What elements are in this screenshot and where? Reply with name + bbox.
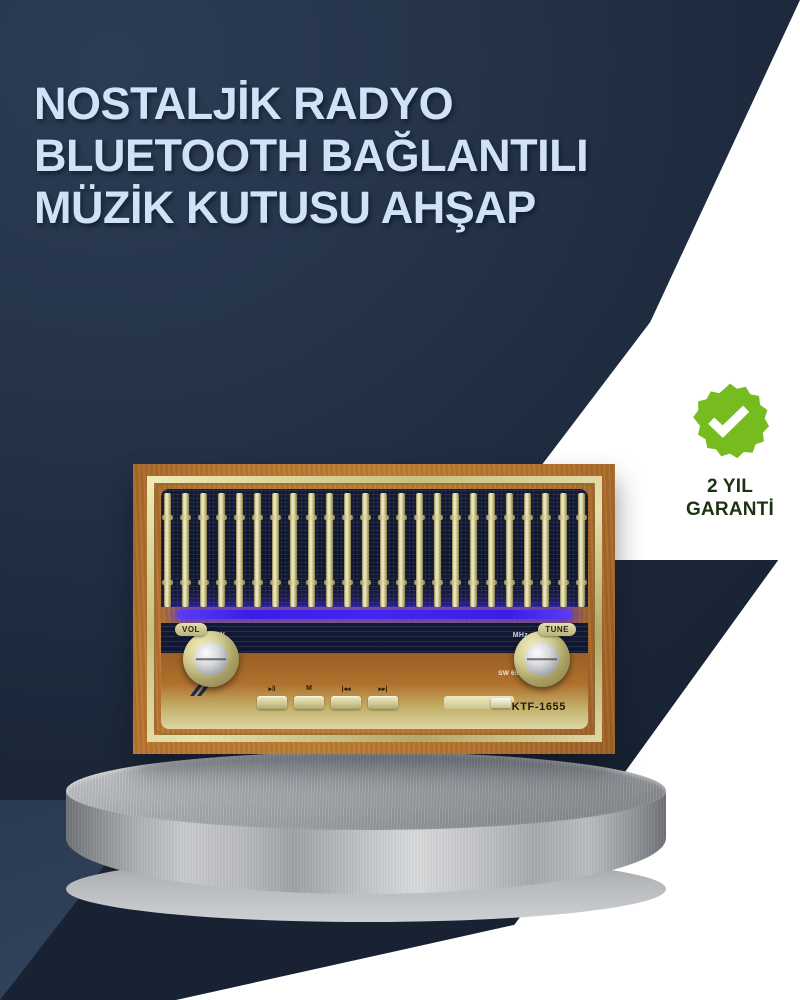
headline-line-3: MÜZİK KUTUSU AHŞAP: [34, 182, 754, 234]
grille-bar: [308, 493, 315, 607]
warranty-badge-label: 2 YIL GARANTİ: [662, 475, 798, 521]
play-pause-button-icon: ▸ǁ: [257, 685, 287, 693]
warranty-badge: 2 YIL GARANTİ: [662, 382, 798, 521]
grille-bar: [218, 493, 225, 607]
product-pedestal: [66, 752, 666, 924]
next-track-button[interactable]: [368, 696, 398, 709]
grille-bar: [200, 493, 207, 607]
grille-bar: [470, 493, 477, 607]
previous-track-button[interactable]: [331, 696, 361, 709]
grille-bar: [164, 493, 171, 607]
check-mark-icon: [688, 382, 772, 466]
blue-led-strip: [177, 610, 572, 619]
control-buttons: [257, 696, 398, 709]
grille-bar: [344, 493, 351, 607]
warranty-years: 2 YIL: [662, 475, 798, 498]
warranty-word: GARANTİ: [662, 498, 798, 521]
pedestal-top-surface: [66, 752, 666, 830]
next-track-button-icon: ▸▸|: [368, 685, 398, 693]
grille-bar: [236, 493, 243, 607]
dial-sw-row: SW MHz: [213, 632, 528, 639]
mode-button-icon: M: [294, 685, 324, 693]
grille-bar: [560, 493, 567, 607]
grille-bar: [542, 493, 549, 607]
grille-bar: [362, 493, 369, 607]
tuning-knob[interactable]: [514, 631, 570, 687]
grille-bar: [272, 493, 279, 607]
grille-bar: [380, 493, 387, 607]
volume-knob-face: [194, 642, 228, 676]
speaker-grille: [161, 489, 588, 607]
volume-knob-label: VOL: [175, 623, 207, 636]
play-pause-button[interactable]: [257, 696, 287, 709]
band-slider-switch[interactable]: [444, 696, 514, 709]
grille-bar: [506, 493, 513, 607]
grille-bar: [254, 493, 261, 607]
grille-bar: [452, 493, 459, 607]
grille-bar: [326, 493, 333, 607]
band-slider-knob[interactable]: [491, 698, 511, 708]
grille-bar: [434, 493, 441, 607]
tuning-knob-face: [525, 642, 559, 676]
model-number-label: KTF-1655: [512, 701, 566, 713]
grille-bar: [488, 493, 495, 607]
grille-bar: [416, 493, 423, 607]
headline: NOSTALJİK RADYO BLUETOOTH BAĞLANTILI MÜZ…: [34, 78, 754, 235]
headline-line-2: BLUETOOTH BAĞLANTILI: [34, 130, 754, 182]
grille-bar: [290, 493, 297, 607]
nostalgic-radio-product: SW MHz AM 162014001180950710530 KHz FM 1…: [133, 464, 615, 754]
headline-line-1: NOSTALJİK RADYO: [34, 78, 754, 130]
product-poster: NOSTALJİK RADYO BLUETOOTH BAĞLANTILI MÜZ…: [0, 0, 800, 1000]
tuning-knob-label: TUNE: [538, 623, 576, 636]
volume-knob[interactable]: [183, 631, 239, 687]
grille-bar: [182, 493, 189, 607]
control-button-icons: ▸ǁM|◂◂▸▸|: [257, 685, 398, 693]
previous-track-button-icon: |◂◂: [331, 685, 361, 693]
grille-bar: [578, 493, 585, 607]
mode-button[interactable]: [294, 696, 324, 709]
grille-bar: [524, 493, 531, 607]
grille-bar: [398, 493, 405, 607]
radio-front-panel: SW MHz AM 162014001180950710530 KHz FM 1…: [161, 489, 588, 729]
